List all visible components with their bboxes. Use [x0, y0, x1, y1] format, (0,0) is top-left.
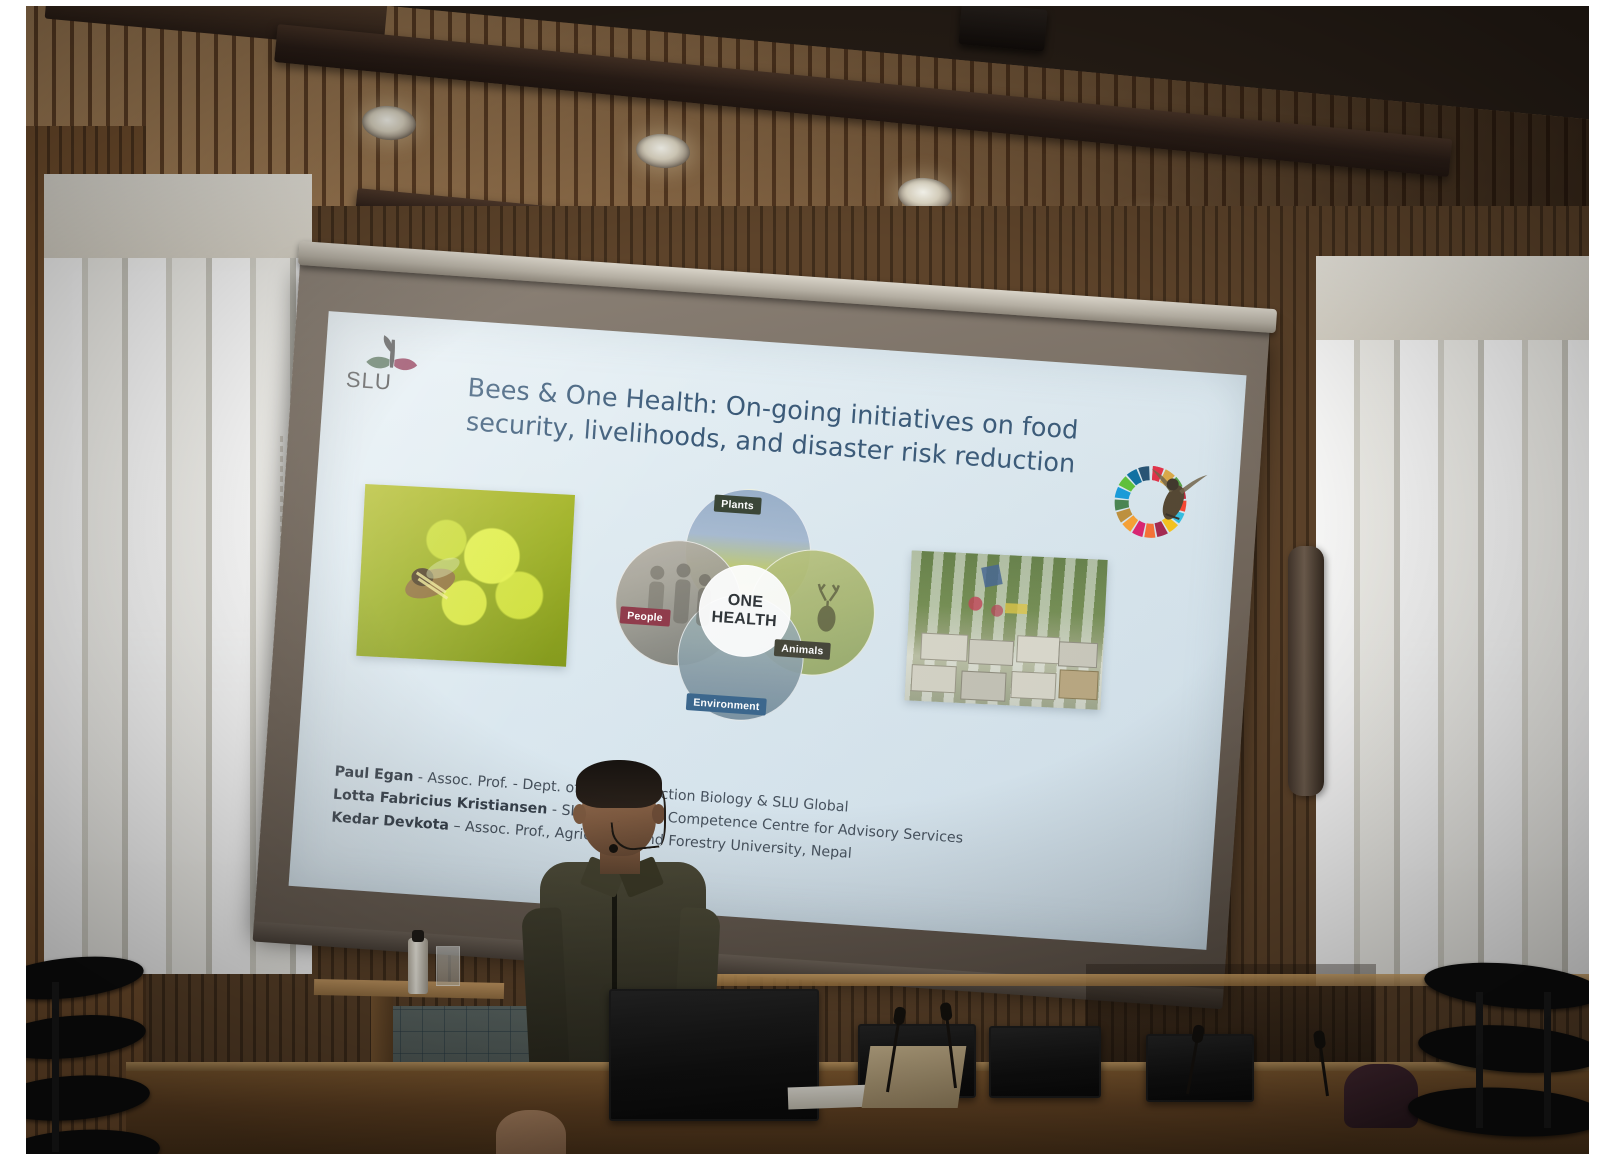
photo-body: SLU Bees & One Health: On-going initiati… [26, 6, 1589, 1154]
venn-label-people: People [620, 606, 671, 626]
wall-column-speaker-right [1288, 546, 1324, 796]
curtain-panels-right [1316, 256, 1589, 986]
slide-title: Bees & One Health: On-going initiatives … [450, 370, 1093, 483]
desk-monitor [989, 1026, 1101, 1098]
chair-post [1544, 992, 1551, 1128]
slu-wordmark: SLU [345, 367, 392, 396]
ceiling-projector [958, 6, 1047, 52]
credit-author-name: Kedar Devkota [331, 810, 450, 834]
chair-slat [26, 1009, 148, 1064]
photo-apiary-beehives [905, 550, 1108, 709]
water-bottle-cap [412, 930, 424, 942]
headset-microphone-capsule [609, 844, 618, 853]
chair-right [1424, 964, 1589, 1154]
page-margin-top [0, 0, 1607, 6]
projection-screen-assembly: SLU Bees & One Health: On-going initiati… [267, 264, 1257, 1000]
seated-attendee [1344, 1064, 1418, 1128]
venn-center-line-2: HEALTH [711, 609, 778, 631]
chair-slat [26, 950, 146, 1005]
drinking-glass [436, 946, 460, 986]
page-margin-left [0, 0, 26, 1158]
bee-illustration-icon [1145, 461, 1212, 535]
one-health-venn-diagram: Plants People Animals Environment ONE HE… [602, 480, 886, 730]
chair-left [40, 958, 190, 1154]
photo-bee-on-rapeseed [356, 484, 575, 667]
page-margin-right [1589, 0, 1607, 1158]
page-margin-bottom [0, 1154, 1607, 1158]
chair-slat [26, 1071, 151, 1126]
curtain-rail-right [1316, 256, 1589, 340]
venn-label-plants: Plants [714, 495, 762, 515]
presenter-ear-left [573, 804, 586, 824]
credit-author-name: Paul Egan [334, 764, 414, 785]
foreground-attendee-head [496, 1110, 566, 1154]
desk-monitor [1146, 1034, 1254, 1102]
curtain-rail-left [44, 174, 312, 258]
chair-slat [1407, 1083, 1589, 1141]
chair-slat [26, 1126, 161, 1154]
window-right [1316, 256, 1589, 986]
photograph-scene: SLU Bees & One Health: On-going initiati… [0, 0, 1607, 1158]
presentation-slide: SLU Bees & One Health: On-going initiati… [289, 311, 1247, 950]
chair-slat [1422, 956, 1589, 1015]
chair-slat [1417, 1020, 1589, 1079]
chair-post [1476, 992, 1483, 1128]
chair-post [52, 982, 59, 1152]
water-bottle [408, 938, 428, 994]
deer-silhouette-icon [803, 579, 851, 638]
